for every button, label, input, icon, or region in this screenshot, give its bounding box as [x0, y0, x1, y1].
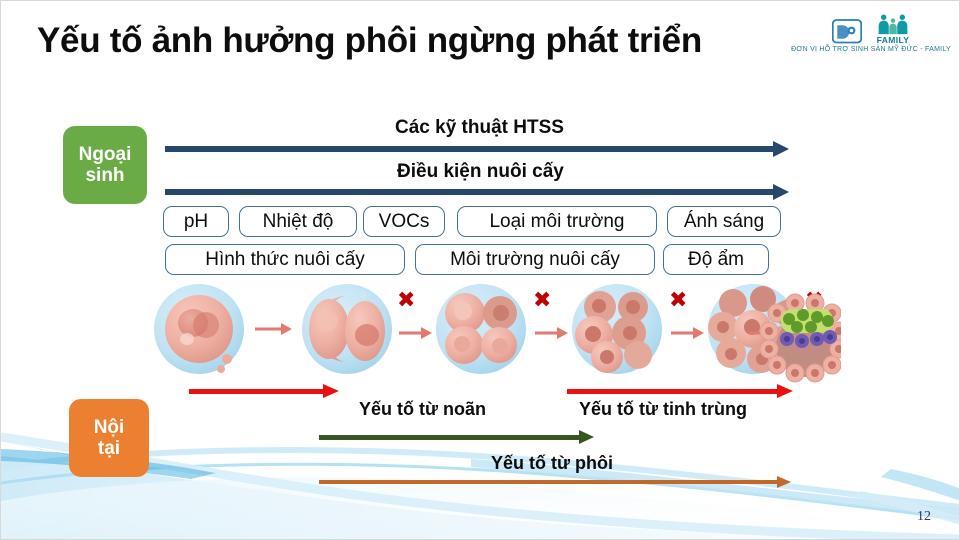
page-title: Yếu tố ảnh hưởng phôi ngừng phát triển — [37, 21, 757, 60]
arrow-oocyte-shaft — [189, 389, 325, 394]
tag-loai-moi-truong[interactable]: Loại môi trường — [457, 206, 657, 237]
tag-nhiet-do[interactable]: Nhiệt độ — [239, 206, 357, 237]
arrow-culture-shaft — [165, 189, 775, 195]
arrest-x-2: ✖ — [533, 288, 551, 313]
arrow-culture-label: Điều kiện nuôi cấy — [397, 161, 564, 183]
arrow-sperm-label: Yếu tố từ tinh trùng — [579, 399, 747, 420]
category-internal[interactable]: Nội tại — [69, 399, 149, 477]
arrow-sperm-head — [777, 384, 793, 398]
arrow-embryo-head — [777, 476, 791, 488]
arrow-htss-label: Các kỹ thuật HTSS — [395, 117, 564, 139]
embryo-development-diagram: ✖ ✖ — [151, 277, 831, 383]
embryo-stage-8cell — [572, 284, 662, 374]
tag-ph[interactable]: pH — [163, 206, 229, 237]
tag-vocs[interactable]: VOCs — [363, 206, 445, 237]
arrow-oocyte-label: Yếu tố từ noãn — [359, 399, 486, 420]
category-external[interactable]: Ngoại sinh — [63, 126, 147, 204]
embryo-stage-2cell — [302, 284, 392, 374]
brand-logo: FAMILY ĐƠN VỊ HỖ TRỢ SINH SẢN MỸ ĐỨC - F… — [787, 9, 955, 67]
tag-hinh-thuc-nuoi-cay[interactable]: Hình thức nuôi cấy — [165, 244, 405, 275]
category-external-line1: Ngoại — [79, 144, 132, 165]
arrow-htss-head — [773, 141, 789, 157]
arrow-embryo-label: Yếu tố từ phôi — [491, 453, 613, 474]
arrest-x-1: ✖ — [397, 288, 415, 313]
arrow-green-head — [579, 430, 594, 444]
tag-do-am[interactable]: Độ ẩm — [663, 244, 769, 275]
arrow-embryo-shaft — [319, 480, 779, 484]
page-number: 12 — [917, 509, 931, 525]
arrow-htss-shaft — [165, 146, 775, 152]
logo-caption: ĐƠN VỊ HỖ TRỢ SINH SẢN MỸ ĐỨC - FAMILY — [787, 46, 955, 53]
tag-moi-truong-nuoi-cay[interactable]: Môi trường nuôi cấy — [415, 244, 655, 275]
category-internal-line2: tại — [98, 438, 120, 459]
tag-anh-sang[interactable]: Ánh sáng — [667, 206, 781, 237]
arrow-oocyte-head — [323, 384, 339, 398]
family-logo: FAMILY — [876, 13, 910, 45]
arrow-green-shaft — [319, 435, 581, 440]
family-figures-icon — [876, 13, 910, 35]
embryo-stage-4cell — [436, 284, 526, 374]
arrest-x-3: ✖ — [669, 288, 687, 313]
slide-canvas: Yếu tố ảnh hưởng phôi ngừng phát triển — [0, 0, 960, 540]
ivfmd-icon — [832, 19, 862, 45]
embryo-stage-blastocyst — [731, 277, 841, 383]
category-internal-line1: Nội — [94, 417, 125, 438]
family-logo-label: FAMILY — [877, 35, 910, 45]
category-external-line2: sinh — [85, 165, 124, 186]
logo-marks: FAMILY — [787, 9, 955, 45]
arrow-sperm-shaft — [567, 389, 779, 394]
embryo-stage-zygote — [154, 284, 244, 374]
arrow-culture-head — [773, 184, 789, 200]
